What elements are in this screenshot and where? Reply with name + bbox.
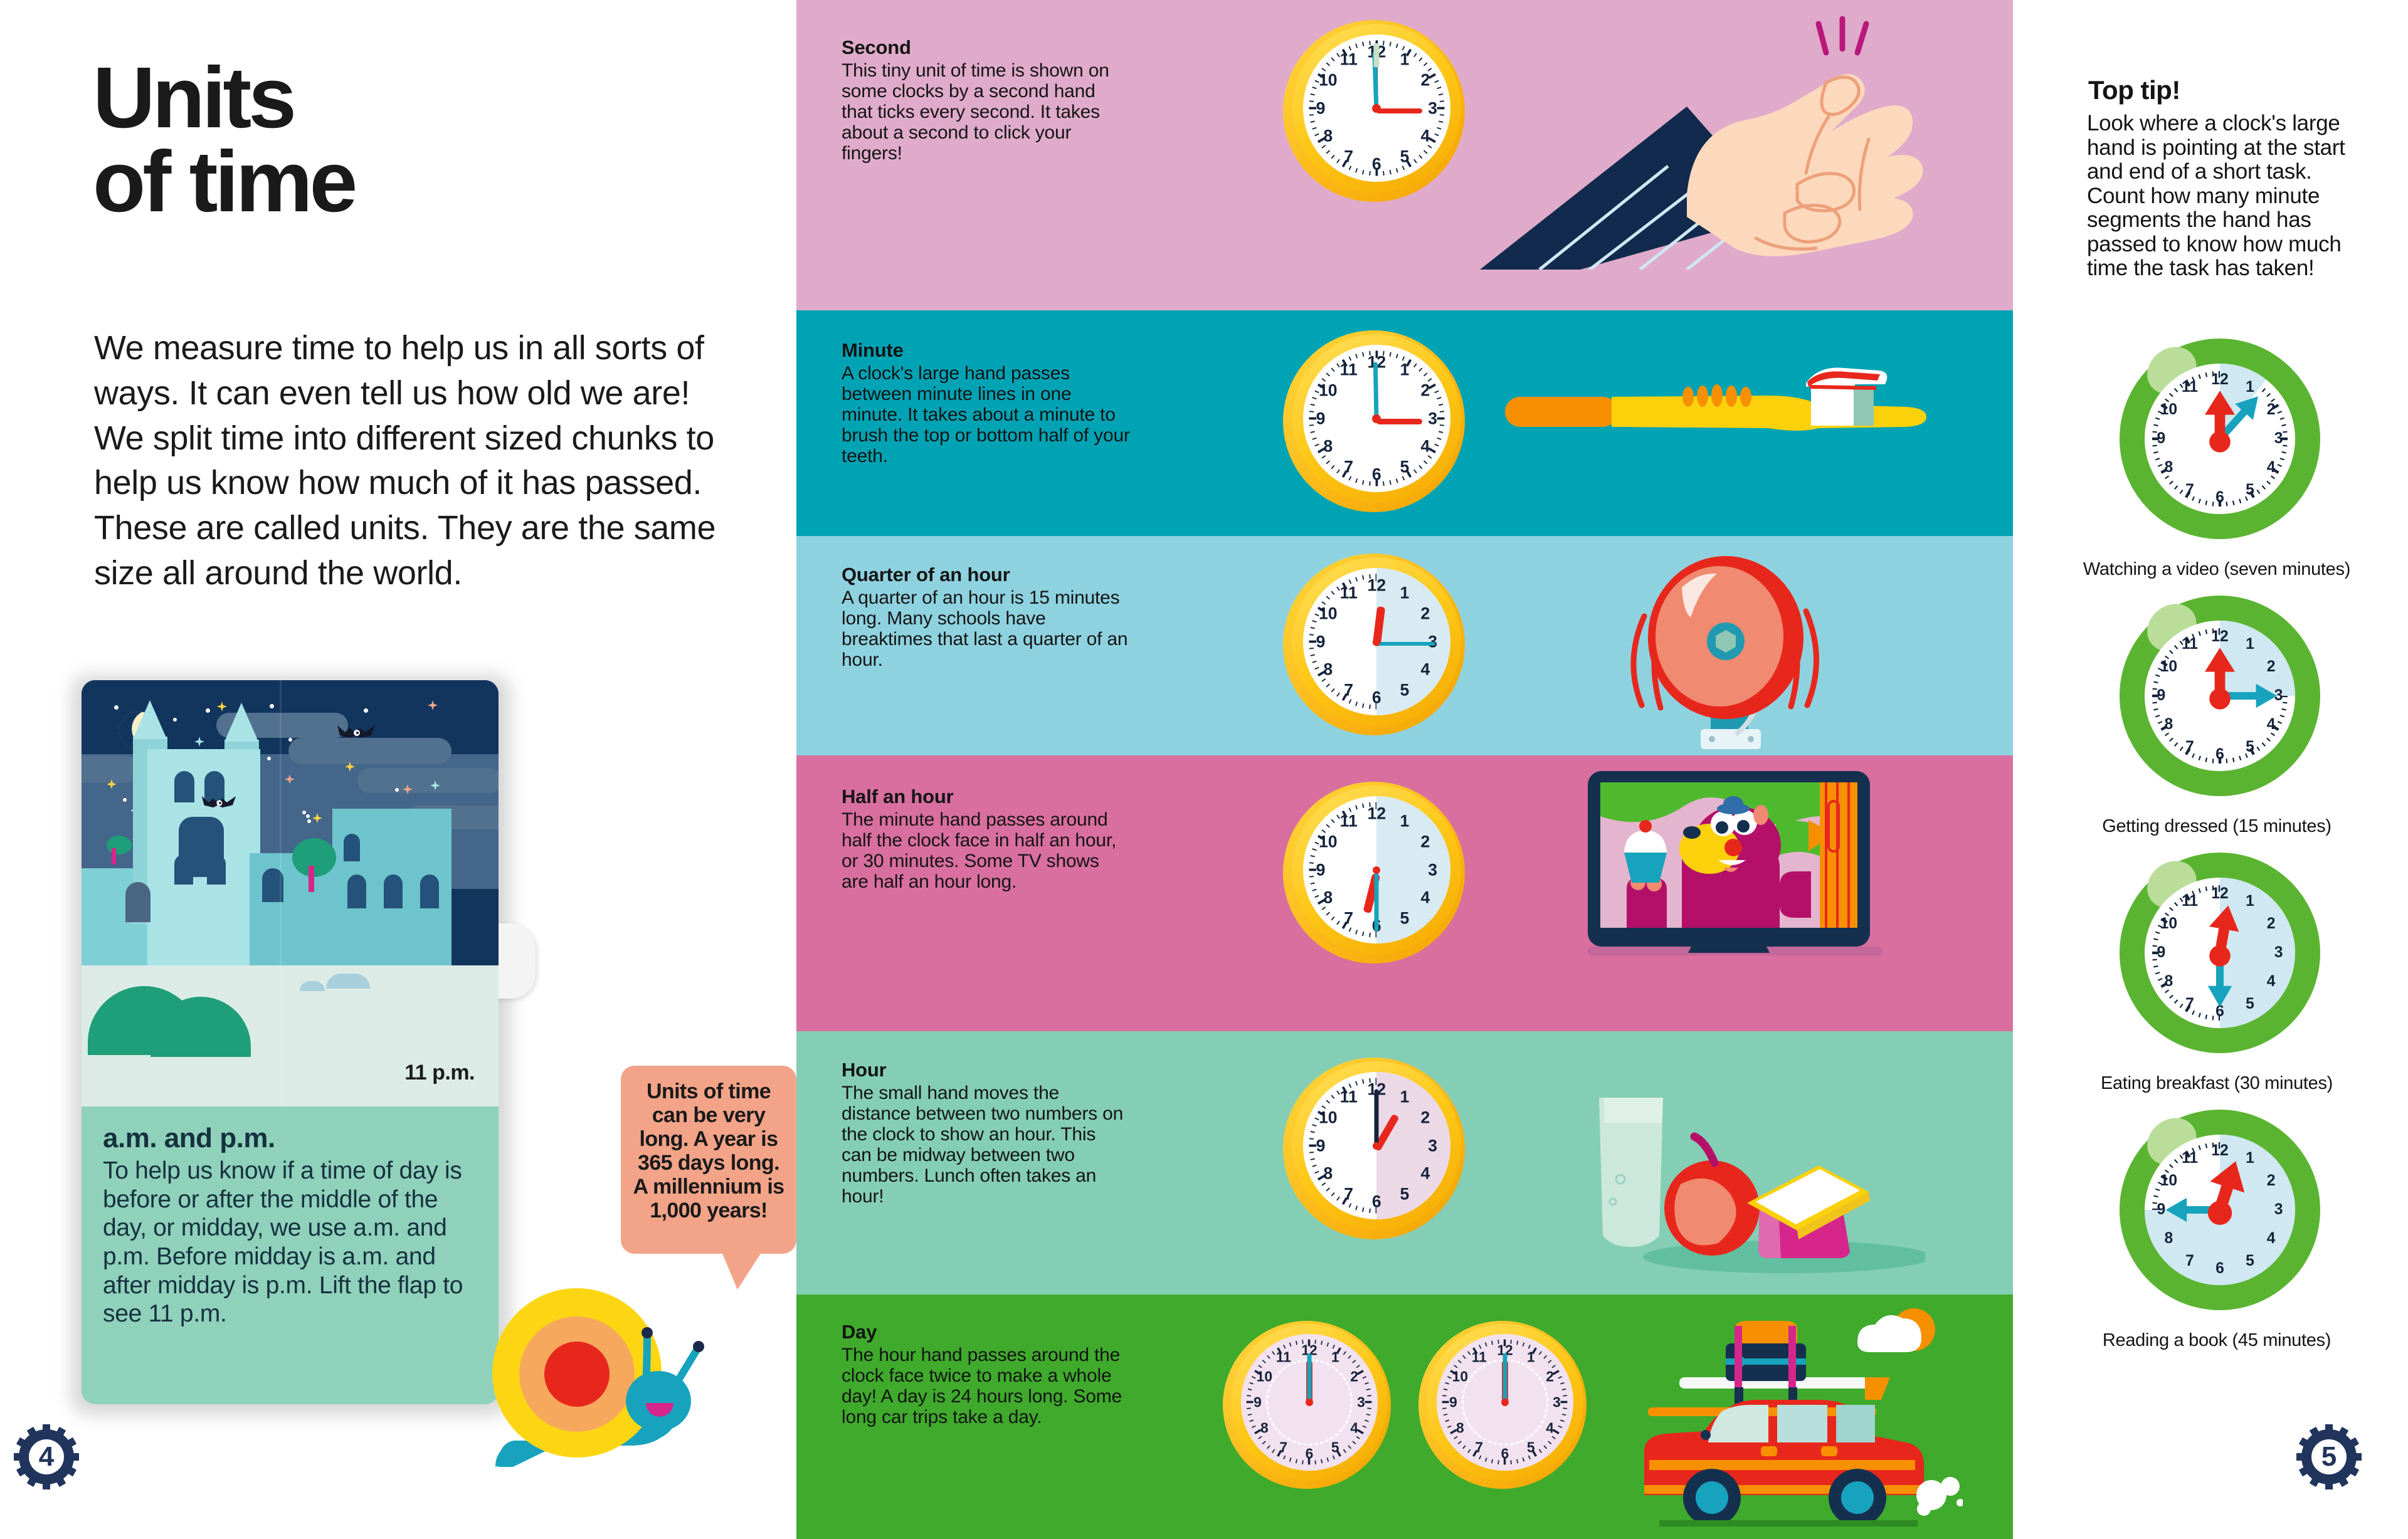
task-caption: Eating breakfast (30 minutes) bbox=[2082, 1073, 2352, 1094]
rock-icon bbox=[326, 974, 370, 989]
unit-row-half-hour: Half an hour The minute hand passes arou… bbox=[796, 755, 2013, 1031]
top-tip-body: Look where a clock's large hand is point… bbox=[2087, 112, 2350, 281]
clock-hour: 121 23 45 67 89 1011 bbox=[1283, 1058, 1465, 1239]
castle-window bbox=[174, 854, 193, 885]
clock-hands bbox=[2145, 878, 2295, 1028]
left-page: Units of time We measure time to help us… bbox=[0, 0, 796, 1539]
toothbrush-illustration bbox=[1505, 359, 1944, 472]
green-clock-getting-dressed: 121 23 45 67 89 1011 bbox=[2120, 596, 2320, 796]
page-number-left: 4 bbox=[14, 1424, 79, 1489]
green-clock-watching-video: 121 23 45 67 89 1011 bbox=[2120, 339, 2320, 539]
unit-text-hour: Hour The small hand moves the distance b… bbox=[842, 1059, 1130, 1207]
star-icon bbox=[307, 819, 311, 823]
ruin-window bbox=[420, 875, 439, 908]
am-pm-heading: a.m. and p.m. bbox=[103, 1123, 477, 1154]
star-icon bbox=[173, 718, 177, 722]
school-bell-illustration bbox=[1605, 549, 1869, 749]
intro-paragraph: We measure time to help us in all sorts … bbox=[94, 326, 727, 596]
unit-text-second: Second This tiny unit of time is shown o… bbox=[842, 36, 1130, 164]
unit-heading: Day bbox=[842, 1321, 1130, 1343]
clock-face: 121 23 45 67 89 1011 bbox=[2145, 621, 2295, 771]
ruin-window bbox=[347, 875, 366, 908]
unit-text-half-hour: Half an hour The minute hand passes arou… bbox=[842, 785, 1130, 892]
unit-heading: Hour bbox=[842, 1059, 1130, 1081]
unit-heading: Minute bbox=[842, 339, 1130, 362]
speech-bubble-text: Units of time can be very long. A year i… bbox=[632, 1079, 785, 1222]
lift-the-flap-card[interactable]: 11 p.m. a.m. and p.m. To help us know if… bbox=[82, 680, 508, 1410]
unit-heading: Quarter of an hour bbox=[842, 564, 1130, 586]
castle-window bbox=[174, 771, 194, 802]
unit-body: A quarter of an hour is 15 minutes long.… bbox=[842, 587, 1130, 670]
unit-body: The small hand moves the distance betwee… bbox=[842, 1083, 1130, 1207]
star-icon bbox=[114, 705, 119, 710]
castle-window bbox=[207, 854, 226, 885]
star-icon bbox=[395, 788, 399, 792]
star-icon bbox=[206, 708, 210, 713]
cloud-icon bbox=[357, 768, 499, 793]
page-number-badge-right: 5 bbox=[2296, 1424, 2362, 1489]
ruin-window bbox=[344, 834, 360, 861]
clock-face: 121 23 45 67 89 1011 bbox=[1437, 1334, 1573, 1470]
task-item-watching-video: 121 23 45 67 89 1011 bbox=[2082, 339, 2352, 596]
minute-hand bbox=[1375, 1089, 1379, 1148]
clock-minute: 121 23 45 67 89 1011 bbox=[1283, 330, 1465, 512]
tree-icon bbox=[107, 836, 132, 854]
top-tip-column: Top tip! Look where a clock's large hand… bbox=[2013, 0, 2408, 1539]
star-icon bbox=[123, 798, 127, 802]
unit-body: This tiny unit of time is shown on some … bbox=[842, 60, 1130, 164]
clock-face: 121 23 45 67 89 1011 bbox=[2145, 1135, 2295, 1285]
clock-half-hour: 121 23 45 67 89 1011 bbox=[1283, 782, 1465, 964]
clock-face: 121 23 45 67 89 1011 bbox=[1303, 34, 1450, 182]
minute-hand bbox=[1307, 1353, 1312, 1404]
clock-face: 121 23 45 67 89 1011 bbox=[1241, 1334, 1377, 1470]
clock-face: 121 23 45 67 89 1011 bbox=[2145, 364, 2295, 514]
star-icon bbox=[302, 811, 306, 814]
clock-second: 121 23 45 67 89 1011 bbox=[1283, 20, 1465, 202]
page-title-line2: of time bbox=[93, 140, 720, 224]
am-pm-text-block: a.m. and p.m. To help us know if a time … bbox=[82, 1106, 499, 1404]
unit-row-minute: Minute A clock's large hand passes betwe… bbox=[796, 310, 2013, 536]
tree-trunk bbox=[112, 848, 116, 864]
night-castle-illustration: 11 p.m. bbox=[82, 680, 499, 1106]
clicking-fingers-illustration bbox=[1480, 6, 1956, 270]
page-title: Units of time bbox=[93, 56, 720, 224]
flap-fold-line bbox=[280, 680, 282, 1106]
clock-hands bbox=[2145, 1135, 2295, 1285]
task-item-reading-book: 121 23 45 67 89 1011 bbox=[2082, 1110, 2352, 1367]
top-tip-heading: Top tip! bbox=[2088, 75, 2180, 105]
clock-hands bbox=[2145, 621, 2295, 771]
castle-spire bbox=[224, 703, 258, 742]
page-number-badge-left: 4 bbox=[14, 1424, 79, 1489]
clock-day-1: 121 23 45 67 89 1011 bbox=[1223, 1321, 1391, 1489]
minute-hand bbox=[1376, 642, 1435, 646]
unit-body: The hour hand passes around the clock fa… bbox=[842, 1345, 1130, 1427]
clock-face: 121 23 45 67 89 1011 bbox=[1303, 568, 1450, 715]
cloud-icon bbox=[82, 755, 138, 783]
clock-face: 121 23 45 67 89 1011 bbox=[1303, 1072, 1450, 1219]
unit-body: The minute hand passes around half the c… bbox=[842, 809, 1130, 892]
clock-face: 121 23 45 67 89 1011 bbox=[1303, 345, 1450, 492]
task-item-eating-breakfast: 121 23 45 67 89 1011 bbox=[2082, 853, 2352, 1110]
castle-spire bbox=[133, 700, 167, 739]
green-clock-reading-book: 121 23 45 67 89 1011 bbox=[2120, 1110, 2320, 1310]
bat-icon bbox=[336, 724, 376, 740]
unit-text-quarter-hour: Quarter of an hour A quarter of an hour … bbox=[842, 564, 1130, 670]
tree-icon bbox=[292, 838, 336, 877]
unit-heading: Half an hour bbox=[842, 785, 1130, 808]
task-item-getting-dressed: 121 23 45 67 89 1011 bbox=[2082, 596, 2352, 853]
cloud-icon bbox=[288, 738, 451, 764]
second-sweep bbox=[1374, 43, 1380, 67]
clock-face: 121 23 45 67 89 1011 bbox=[1303, 796, 1450, 943]
clock-hands bbox=[2145, 364, 2295, 514]
page-number-right: 5 bbox=[2296, 1424, 2362, 1489]
units-column: Second This tiny unit of time is shown o… bbox=[796, 0, 2013, 1539]
unit-row-day: Day The hour hand passes around the cloc… bbox=[796, 1295, 2013, 1539]
ruin-window bbox=[384, 875, 403, 908]
flap-time-label: 11 p.m. bbox=[404, 1061, 475, 1085]
tree-trunk bbox=[309, 866, 314, 892]
unit-row-second: Second This tiny unit of time is shown o… bbox=[796, 0, 2013, 310]
star-icon bbox=[364, 708, 368, 713]
tv-illustration bbox=[1588, 771, 1889, 1016]
hour-hand bbox=[1376, 419, 1422, 424]
flap-card-body: 11 p.m. a.m. and p.m. To help us know if… bbox=[82, 680, 499, 1404]
speech-bubble: Units of time can be very long. A year i… bbox=[621, 1066, 796, 1254]
unit-text-day: Day The hour hand passes around the cloc… bbox=[842, 1321, 1130, 1427]
task-caption: Reading a book (45 minutes) bbox=[2082, 1330, 2352, 1351]
car-illustration bbox=[1612, 1307, 1963, 1526]
star-icon bbox=[288, 738, 292, 742]
star-icon bbox=[270, 704, 274, 708]
unit-row-hour: Hour The small hand moves the distance b… bbox=[796, 1031, 2013, 1295]
hour-hand bbox=[1376, 108, 1422, 113]
unit-text-minute: Minute A clock's large hand passes betwe… bbox=[842, 339, 1130, 466]
clock-quarter-hour: 121 23 45 67 89 1011 bbox=[1283, 554, 1465, 735]
book-spread: Units of time We measure time to help us… bbox=[0, 0, 2408, 1539]
am-pm-body: To help us know if a time of day is befo… bbox=[103, 1157, 477, 1328]
unit-row-quarter-hour: Quarter of an hour A quarter of an hour … bbox=[796, 536, 2013, 755]
snail-illustration bbox=[477, 1279, 771, 1492]
unit-body: A clock's large hand passes between minu… bbox=[842, 363, 1130, 466]
task-caption: Getting dressed (15 minutes) bbox=[2082, 816, 2352, 837]
lunch-illustration bbox=[1599, 1069, 1925, 1276]
green-clock-eating-breakfast: 121 23 45 67 89 1011 bbox=[2120, 853, 2320, 1053]
page-title-line1: Units bbox=[93, 56, 720, 140]
castle-door bbox=[125, 882, 150, 922]
unit-heading: Second bbox=[842, 36, 1130, 59]
task-caption: Watching a video (seven minutes) bbox=[2082, 559, 2352, 580]
star-icon bbox=[267, 757, 271, 760]
clock-face: 121 23 45 67 89 1011 bbox=[2145, 878, 2295, 1028]
minute-hand bbox=[1503, 1353, 1508, 1404]
clock-day-2: 121 23 45 67 89 1011 bbox=[1418, 1321, 1587, 1489]
bat-icon bbox=[201, 794, 237, 811]
minute-hand bbox=[1375, 872, 1379, 931]
star-icon bbox=[306, 814, 310, 818]
